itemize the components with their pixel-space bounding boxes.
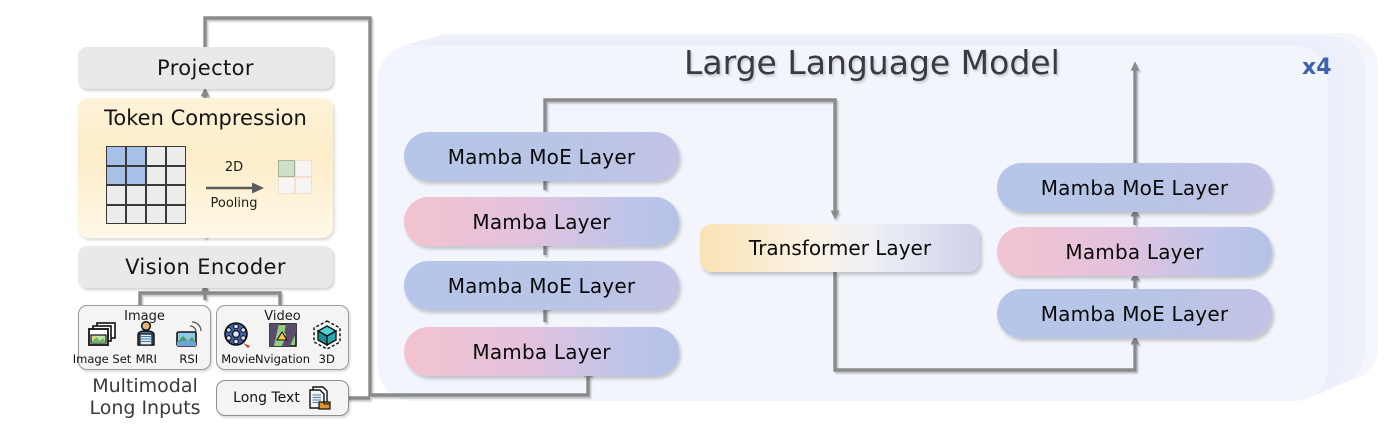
document-folder-icon <box>306 385 332 411</box>
pooling-label-bottom: Pooling <box>204 196 264 211</box>
input-label: RSI <box>179 352 198 366</box>
layer-label: Mamba MoE Layer <box>1041 176 1229 200</box>
llm-right-layer-1[interactable]: Mamba MoE Layer <box>997 163 1272 212</box>
grid-cell <box>166 185 186 205</box>
film-reel-icon <box>221 319 255 351</box>
llm-left-layer-3[interactable]: Mamba MoE Layer <box>404 261 679 310</box>
long-text-input[interactable]: Long Text <box>216 380 349 416</box>
grid-cell <box>278 160 295 177</box>
map-icon <box>266 319 300 351</box>
grid-cell <box>106 166 126 186</box>
grid-cell <box>146 185 166 205</box>
grid-cell <box>106 205 126 225</box>
layer-label: Mamba Layer <box>472 340 610 364</box>
caption-line-1: Multimodal <box>70 376 220 398</box>
layer-label: Mamba MoE Layer <box>1041 302 1229 326</box>
video-icon-row: Movie Nvigation 3D <box>217 319 348 366</box>
image-icon-row: Image Set MRI <box>79 319 210 366</box>
grid-cell <box>146 166 166 186</box>
layer-label: Transformer Layer <box>749 236 931 260</box>
video-input-card[interactable]: Video Movie <box>216 305 349 370</box>
grid-cell <box>126 146 146 166</box>
grid-cell <box>295 160 312 177</box>
input-label: MRI <box>136 352 157 366</box>
llm-left-layer-4[interactable]: Mamba Layer <box>404 327 679 376</box>
input-item-rsi[interactable]: RSI <box>168 319 211 366</box>
caption-line-2: Long Inputs <box>70 398 220 420</box>
pooling-arrow-icon <box>204 180 266 196</box>
grid-cell <box>166 166 186 186</box>
satellite-icon <box>172 319 206 351</box>
pooling-label-top: 2D <box>204 160 264 175</box>
token-compression-panel: Token Compression 2D Pooling <box>78 98 333 238</box>
input-item-movie[interactable]: Movie <box>217 319 260 366</box>
grid-cell <box>106 185 126 205</box>
grid-cell <box>126 205 146 225</box>
input-item-navigation[interactable]: Nvigation <box>260 319 306 366</box>
grid-cell <box>106 146 126 166</box>
layer-label: Mamba MoE Layer <box>448 274 636 298</box>
token-grid-input <box>106 146 186 224</box>
image-set-icon <box>85 319 119 351</box>
llm-left-layer-1[interactable]: Mamba MoE Layer <box>404 132 679 181</box>
layer-label: Mamba MoE Layer <box>448 145 636 169</box>
diagram-canvas: Large Language Model x4 <box>0 0 1384 429</box>
input-label: Nvigation <box>255 352 310 366</box>
grid-cell <box>166 146 186 166</box>
llm-title: Large Language Model <box>684 43 1060 82</box>
cube-icon <box>310 319 344 351</box>
grid-cell <box>126 166 146 186</box>
projector-label: Projector <box>157 56 254 80</box>
multimodal-inputs-caption: Multimodal Long Inputs <box>70 376 220 420</box>
input-label: 3D <box>319 352 335 366</box>
vision-encoder-label: Vision Encoder <box>125 255 286 279</box>
llm-right-layer-2[interactable]: Mamba Layer <box>997 227 1272 276</box>
llm-transformer-layer[interactable]: Transformer Layer <box>700 224 980 272</box>
grid-cell <box>146 205 166 225</box>
repeat-badge: x4 <box>1302 55 1332 80</box>
input-item-3d[interactable]: 3D <box>306 319 349 366</box>
grid-cell <box>295 177 312 194</box>
input-label: Movie <box>221 352 255 366</box>
layer-label: Mamba Layer <box>1065 240 1203 264</box>
llm-left-layer-2[interactable]: Mamba Layer <box>404 197 679 246</box>
grid-cell <box>278 177 295 194</box>
vision-encoder-box[interactable]: Vision Encoder <box>78 246 333 288</box>
grid-cell <box>126 185 146 205</box>
projector-box[interactable]: Projector <box>78 47 333 89</box>
layer-label: Mamba Layer <box>472 210 610 234</box>
grid-cell <box>146 146 166 166</box>
input-item-image-set[interactable]: Image Set <box>79 319 125 366</box>
grid-cell <box>166 205 186 225</box>
input-label: Image Set <box>73 352 132 366</box>
image-input-card[interactable]: Image Image Set <box>78 305 211 370</box>
mri-icon <box>129 319 163 351</box>
llm-right-layer-3[interactable]: Mamba MoE Layer <box>997 289 1272 338</box>
input-item-mri[interactable]: MRI <box>125 319 168 366</box>
token-grid-output <box>278 160 312 194</box>
long-text-label: Long Text <box>233 390 300 406</box>
token-compression-title: Token Compression <box>78 106 333 130</box>
